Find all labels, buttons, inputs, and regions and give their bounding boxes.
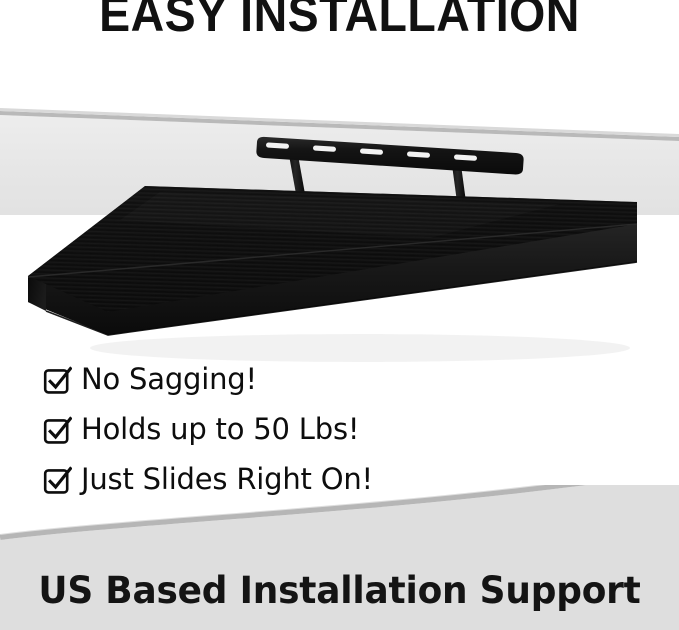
product-feature-graphic: EASY INSTALLATION (0, 0, 679, 630)
shelf-and-bracket-illustration (0, 120, 679, 370)
list-item-label: No Sagging! (81, 365, 257, 394)
floating-shelf (28, 186, 637, 362)
footer-banner: US Based Installation Support (0, 485, 679, 630)
list-item-label: Holds up to 50 Lbs! (81, 415, 359, 444)
list-item: No Sagging! (43, 354, 603, 404)
page-title: EASY INSTALLATION (24, 0, 655, 39)
footer-text: US Based Installation Support (10, 572, 669, 611)
list-item: Holds up to 50 Lbs! (43, 404, 603, 454)
feature-list: No Sagging! Holds up to 50 Lbs! Just Sli… (43, 354, 603, 504)
checkbox-checked-icon (43, 416, 72, 445)
checkbox-checked-icon (43, 366, 72, 395)
product-image (0, 120, 679, 370)
